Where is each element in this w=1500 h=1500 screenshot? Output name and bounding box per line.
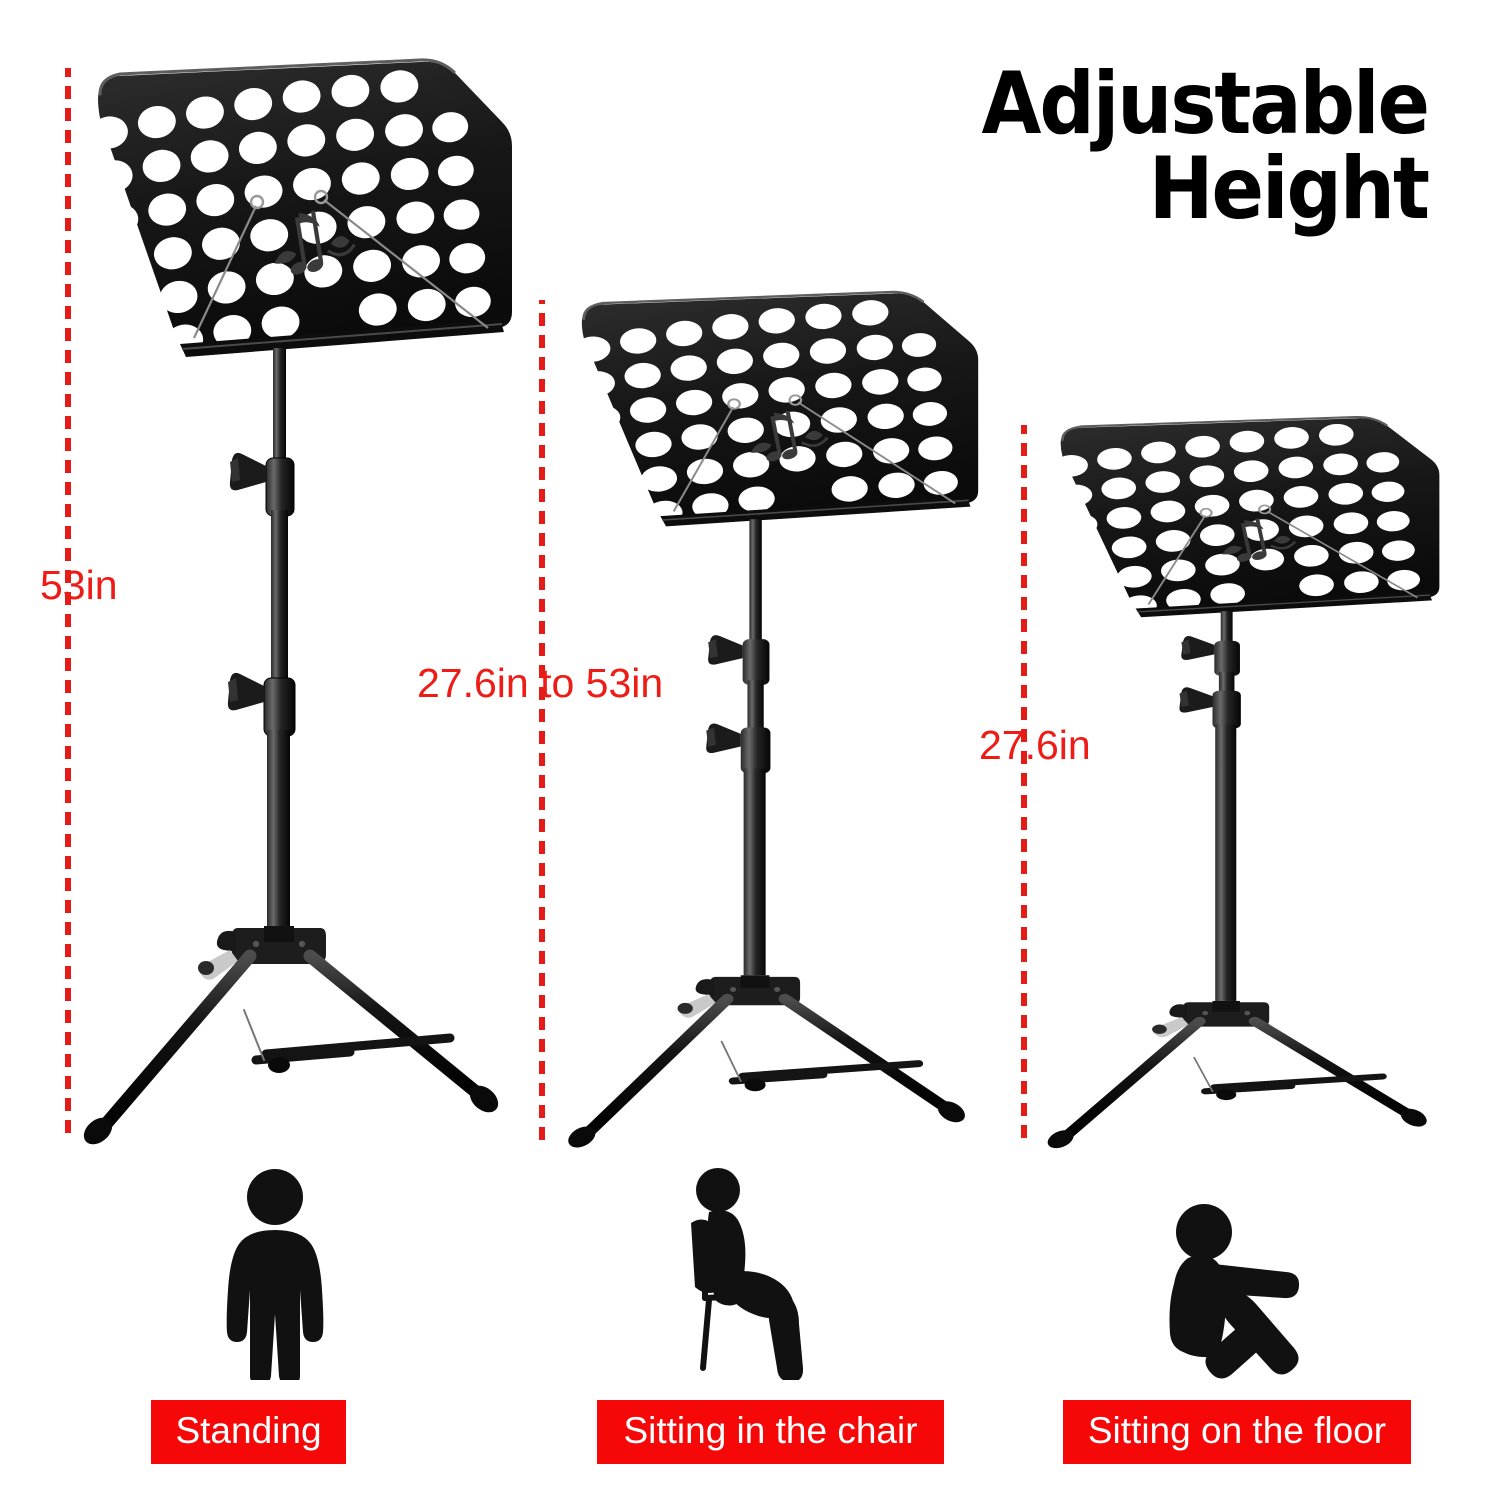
height-clamp-upper[interactable] <box>1181 636 1240 676</box>
height-clamp-lower[interactable] <box>228 673 295 736</box>
tripod-feet <box>563 1079 970 1152</box>
clamp-knob-lower-icon <box>1179 687 1212 712</box>
upper-tube <box>749 519 761 645</box>
clamp-knob-upper-icon <box>230 453 266 490</box>
page-title-line2: Height <box>528 147 1428 232</box>
person-sitting-floor-icon <box>1152 1192 1342 1387</box>
measure-line-right <box>1021 425 1027 1143</box>
music-stand-tall-desk <box>98 60 512 357</box>
lower-tube <box>744 769 766 976</box>
music-stand-short-graphic <box>1035 417 1465 1152</box>
music-stand-short <box>1035 417 1465 1152</box>
clamp-knob-lower-icon <box>706 723 741 753</box>
height-clamp-upper[interactable] <box>708 635 769 685</box>
clamp-knob-upper-icon <box>1181 636 1214 660</box>
tripod-feet <box>79 1057 504 1150</box>
music-stand-medium <box>555 292 1005 1152</box>
height-clamp-upper[interactable] <box>230 453 294 516</box>
music-stand-short-desk <box>1061 417 1440 617</box>
caption-standing: Standing <box>151 1400 346 1464</box>
person-standing-icon <box>212 1168 338 1385</box>
music-stand-medium-desk <box>582 292 978 526</box>
person-sitting-chair-icon <box>665 1168 841 1385</box>
caption-sitting-chair: Sitting in the chair <box>597 1400 944 1464</box>
page-title: Adjustable Height <box>528 62 1428 232</box>
clamp-knob-upper-icon <box>708 635 743 665</box>
lower-tube <box>1215 724 1236 1000</box>
music-stand-tall-graphic <box>70 60 540 1150</box>
music-stand-tall <box>70 60 540 1150</box>
music-stand-medium-graphic <box>555 292 1005 1152</box>
tripod-feet <box>1043 1089 1432 1152</box>
height-clamp-lower[interactable] <box>1179 687 1240 728</box>
caption-sitting-floor: Sitting on the floor <box>1063 1400 1411 1464</box>
middle-tube <box>747 680 763 734</box>
height-clamp-lower[interactable] <box>706 723 770 773</box>
upper-tube <box>273 348 286 468</box>
middle-tube <box>271 510 288 688</box>
clamp-knob-lower-icon <box>228 673 264 710</box>
lower-tube <box>267 730 290 926</box>
infographic-canvas: Adjustable Height 53in 27.6in to 53in 27… <box>0 0 1500 1500</box>
